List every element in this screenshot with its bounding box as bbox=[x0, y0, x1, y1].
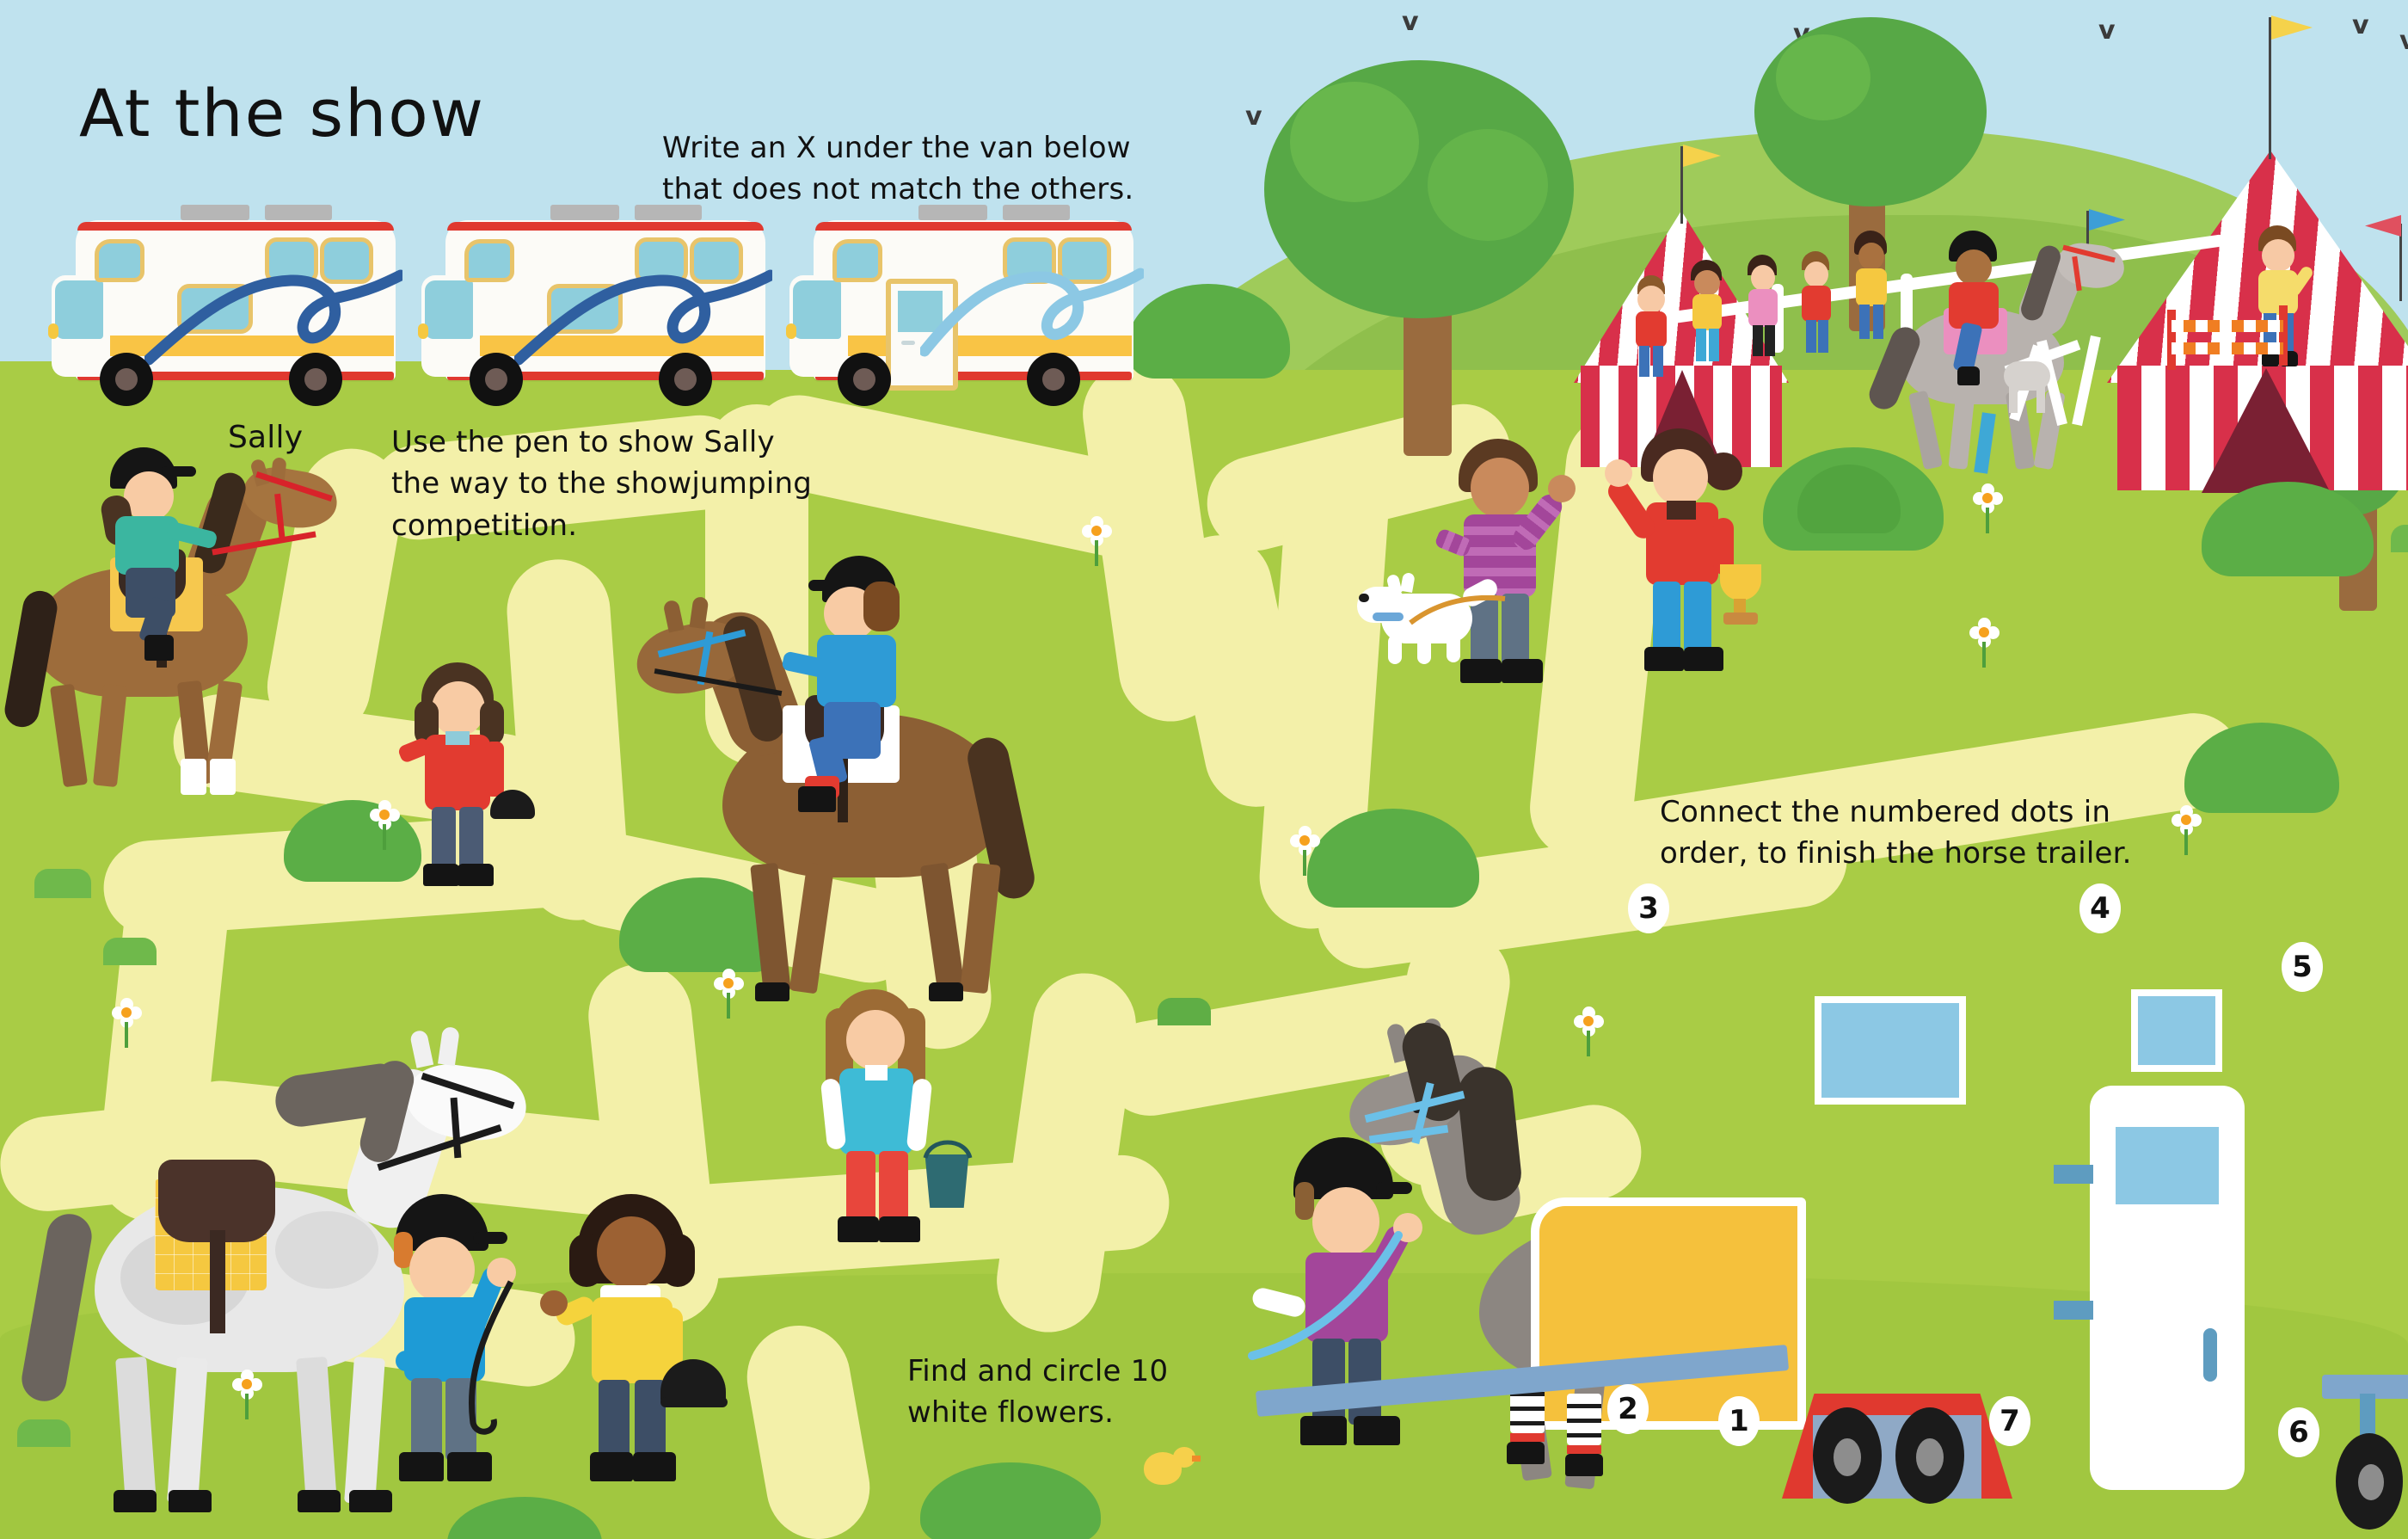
jump-pole bbox=[2171, 342, 2283, 354]
instruction-find-flowers: Find and circle 10 white flowers. bbox=[907, 1351, 1225, 1434]
trailer-small-window bbox=[2131, 989, 2222, 1072]
instruction-odd-one-out: Write an X under the van below that does… bbox=[662, 127, 1161, 211]
white-flower bbox=[1290, 826, 1319, 855]
dot-4[interactable]: 4 bbox=[2079, 883, 2121, 933]
lead-rope bbox=[444, 1277, 547, 1440]
white-flower bbox=[232, 1370, 261, 1399]
grass-tuft bbox=[1158, 998, 1211, 1025]
boy-on-brown-horse bbox=[654, 542, 1118, 1024]
white-flower bbox=[1574, 1007, 1603, 1036]
trailer-front-window bbox=[1815, 996, 1966, 1105]
dot-3[interactable]: 3 bbox=[1628, 883, 1669, 933]
jockey-wheel-hub bbox=[2358, 1464, 2384, 1500]
bird-icon: v bbox=[1245, 102, 1262, 132]
van-decal-swoosh bbox=[920, 256, 1144, 368]
bird-icon: v bbox=[2098, 15, 2116, 46]
bird-icon: v bbox=[2399, 26, 2408, 56]
tree-canopy-highlight bbox=[1776, 34, 1870, 120]
trailer-hinge bbox=[2054, 1301, 2093, 1320]
lead-rope-blue bbox=[1247, 1216, 1428, 1371]
page-title: At the show bbox=[79, 67, 485, 160]
white-flower bbox=[370, 800, 399, 829]
tree-canopy bbox=[1754, 17, 1987, 206]
van-decal-swoosh bbox=[144, 256, 402, 368]
white-flower bbox=[1969, 618, 1999, 647]
bird-icon: v bbox=[2352, 10, 2369, 40]
trailer-hub bbox=[1834, 1438, 1861, 1476]
grass-tuft bbox=[34, 869, 91, 898]
instruction-dot-to-dot: Connect the numbered dots in order, to f… bbox=[1660, 791, 2150, 875]
dot-5[interactable]: 5 bbox=[2282, 942, 2323, 992]
trailer-hub bbox=[1916, 1438, 1944, 1476]
jump-standard bbox=[2279, 305, 2288, 366]
chick-beak bbox=[1192, 1456, 1201, 1462]
activity-page: v v v v v v v bbox=[0, 0, 2408, 1539]
tree-canopy-highlight bbox=[1290, 82, 1419, 202]
jump-standard bbox=[2167, 310, 2176, 370]
bucket-handle bbox=[920, 1134, 975, 1161]
grass-tuft bbox=[103, 938, 157, 965]
dog-lead bbox=[1405, 595, 1508, 647]
dot-7[interactable]: 7 bbox=[1989, 1396, 2030, 1446]
trailer-rear-door bbox=[2090, 1086, 2245, 1490]
white-flower bbox=[714, 969, 743, 998]
grass-tuft bbox=[2391, 525, 2408, 552]
dot-1[interactable]: 1 bbox=[1718, 1396, 1760, 1446]
bird-icon: v bbox=[1402, 7, 1419, 37]
van-decal-swoosh bbox=[514, 256, 772, 368]
tent-left-flagpole bbox=[1680, 146, 1683, 224]
white-flower bbox=[2171, 805, 2201, 834]
camper-van-3[interactable] bbox=[789, 205, 1133, 420]
dot-2[interactable]: 2 bbox=[1607, 1384, 1649, 1434]
sally-on-horse bbox=[9, 430, 353, 791]
instruction-maze: Use the pen to show Sally the way to the… bbox=[391, 422, 830, 546]
trailer-hinge bbox=[2054, 1165, 2093, 1184]
white-flower bbox=[1082, 516, 1111, 545]
jump-pole bbox=[2171, 320, 2283, 332]
sally-name-label: Sally bbox=[228, 416, 303, 459]
white-flower bbox=[112, 998, 141, 1027]
dot-6[interactable]: 6 bbox=[2278, 1407, 2319, 1457]
tent-right-flagpole bbox=[2269, 17, 2271, 159]
white-flower bbox=[1973, 483, 2002, 513]
camper-van-2[interactable] bbox=[421, 205, 765, 420]
bucket bbox=[922, 1154, 972, 1208]
camper-van-1[interactable] bbox=[52, 205, 396, 420]
tree-canopy-highlight bbox=[1428, 129, 1548, 241]
